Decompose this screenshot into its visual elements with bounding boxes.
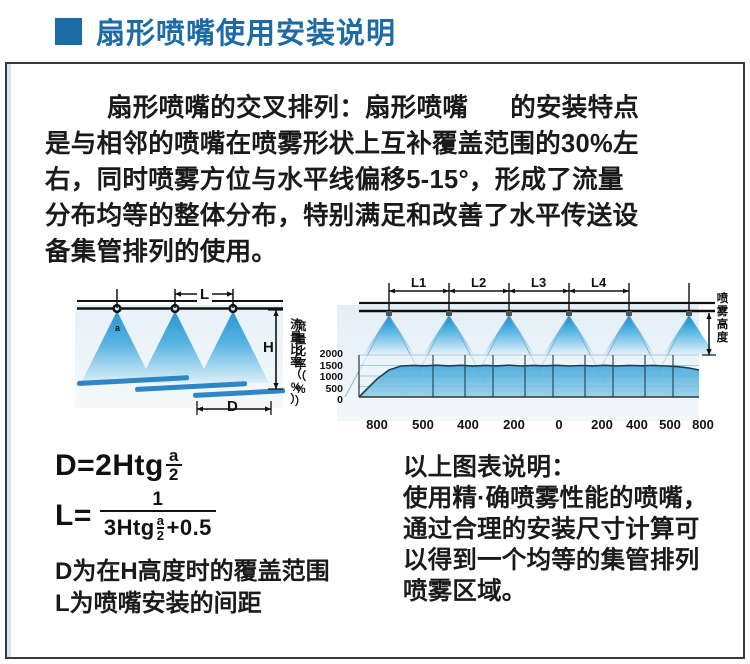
formula-D: D=2Htg a 2: [55, 447, 385, 484]
spray-height-char-1: 雾: [715, 306, 730, 319]
formula-L-den-inner-num: a: [157, 514, 165, 527]
left-figure-drawing: a: [75, 277, 315, 429]
dimension-label-H: H: [263, 339, 274, 356]
formula-L-fraction: 1 3Htg a 2 +0.5: [100, 490, 216, 543]
y-title-char-1: 量: [293, 334, 308, 347]
x-tick-5: 200: [591, 417, 613, 432]
y-title-char-5: %: [293, 384, 308, 397]
spacing-label-L1: L1: [411, 275, 426, 290]
spacing-label-L3: L3: [531, 275, 546, 290]
formula-L-den-suffix: +0.5: [166, 515, 211, 541]
spray-height-char-2: 高: [715, 319, 730, 332]
dimension-label-L: L: [197, 286, 212, 303]
formula-L-numerator: 1: [152, 490, 163, 510]
formula-D-fraction: a 2: [166, 447, 182, 484]
x-tick-8: 800: [692, 417, 714, 432]
x-tick-6: 400: [626, 417, 648, 432]
chart-x-ticks: 800 500 400 200 0 200 400 500 800: [337, 417, 699, 433]
intro-line1-part1: 扇形喷嘴的交叉排列：扇形喷嘴: [107, 94, 468, 122]
right-figure-drawing: [337, 269, 737, 434]
intro-line2: 是与相邻的喷嘴在喷雾形状上互补覆盖范围的30%左: [45, 130, 639, 158]
distribution-chart: [359, 355, 699, 397]
summary-note: 以上图表说明： 使用精·确喷雾性能的喷嘴， 通过合理的安装尺寸计算可 以得到一个…: [403, 452, 733, 607]
y-title-char-4: （: [293, 371, 308, 384]
summary-line3: 通过合理的安装尺寸计算可: [403, 514, 733, 545]
intro-line5: 备集管排列的使用。: [45, 238, 277, 266]
y-title-char-3: 率: [293, 359, 308, 372]
x-tick-2: 400: [457, 417, 479, 432]
formula-L-den-prefix: 3Htg: [104, 515, 155, 541]
formula-L-den-inner-den: 2: [157, 529, 165, 543]
figures-row: a: [7, 269, 747, 434]
spray-height-char-3: 度: [715, 332, 730, 345]
chart-y-axis-title: 流 量 比 率 （ % ）: [293, 321, 308, 409]
formula-D-lhs: D=2Htg: [55, 449, 164, 483]
formula-block: D=2Htg a 2 L= 1 3Htg a: [55, 447, 385, 549]
formula-L-denominator: 3Htg a 2 +0.5: [100, 512, 216, 543]
intro-line3: 右，同时喷雾方位与水平线偏移5-15°，形成了流量: [45, 166, 624, 194]
formula-D-numerator: a: [166, 447, 182, 464]
formula-D-denominator: 2: [166, 466, 182, 484]
formula-L: L= 1 3Htg a 2 +0.5: [55, 490, 385, 543]
x-tick-1: 500: [412, 417, 434, 432]
x-tick-4: 0: [555, 417, 562, 432]
formula-notes: D为在H高度时的覆盖范围 L为喷嘴安装的间距: [55, 556, 395, 620]
content-frame: 扇形喷嘴的交叉排列：扇形喷嘴的安装特点 是与相邻的喷嘴在喷雾形状上互补覆盖范围的…: [5, 62, 745, 659]
intro-paragraph: 扇形喷嘴的交叉排列：扇形喷嘴的安装特点 是与相邻的喷嘴在喷雾形状上互补覆盖范围的…: [45, 90, 717, 270]
y-title-char-6: ）: [293, 396, 308, 409]
dimension-label-D: D: [227, 398, 238, 415]
chart-area-fill: [359, 365, 699, 397]
note-L: L为喷嘴安装的间距: [55, 588, 395, 620]
spray-cone-3: [197, 311, 269, 383]
intro-line1-part2: 的安装特点: [510, 94, 639, 122]
page-title-bar: 扇形喷嘴使用安装说明: [0, 0, 750, 62]
spray-cone-2: [139, 311, 211, 383]
y-title-char-0: 流: [293, 321, 308, 334]
figure-header-distribution: 流 量 比 率 （ % ） 2000 1500 1000 500 0: [337, 269, 737, 434]
x-tick-7: 500: [659, 417, 681, 432]
x-tick-0: 800: [366, 417, 388, 432]
summary-line5: 喷雾区域。: [403, 576, 733, 607]
spray-cone-1: [81, 311, 153, 383]
note-D: D为在H高度时的覆盖范围: [55, 556, 395, 588]
page-root: 扇形喷嘴使用安装说明 扇形喷嘴的交叉排列：扇形喷嘴的安装特点 是与相邻的喷嘴在喷…: [0, 0, 750, 664]
summary-line1: 以上图表说明：: [403, 452, 733, 483]
title-bullet-square-icon: [55, 18, 82, 45]
page-title: 扇形喷嘴使用安装说明: [96, 10, 396, 52]
intro-line4: 分布均等的整体分布，特别满足和改善了水平传送设: [45, 202, 638, 230]
spray-height-char-0: 喷: [715, 293, 730, 306]
summary-line2: 使用精·确喷雾性能的喷嘴，: [403, 483, 733, 514]
x-tick-3: 200: [503, 417, 525, 432]
figure-cross-arrangement: a: [75, 277, 315, 429]
summary-line4: 以得到一个均等的集管排列: [403, 545, 733, 576]
spacing-label-L2: L2: [471, 275, 486, 290]
formula-L-den-inner-fraction: a 2: [157, 514, 165, 543]
spacing-label-L4: L4: [591, 275, 606, 290]
formula-L-lhs: L=: [55, 499, 92, 533]
spray-cones-group: [363, 315, 715, 355]
y-title-char-2: 比: [293, 346, 308, 359]
spray-height-axis-label: 喷 雾 高 度: [715, 293, 730, 345]
